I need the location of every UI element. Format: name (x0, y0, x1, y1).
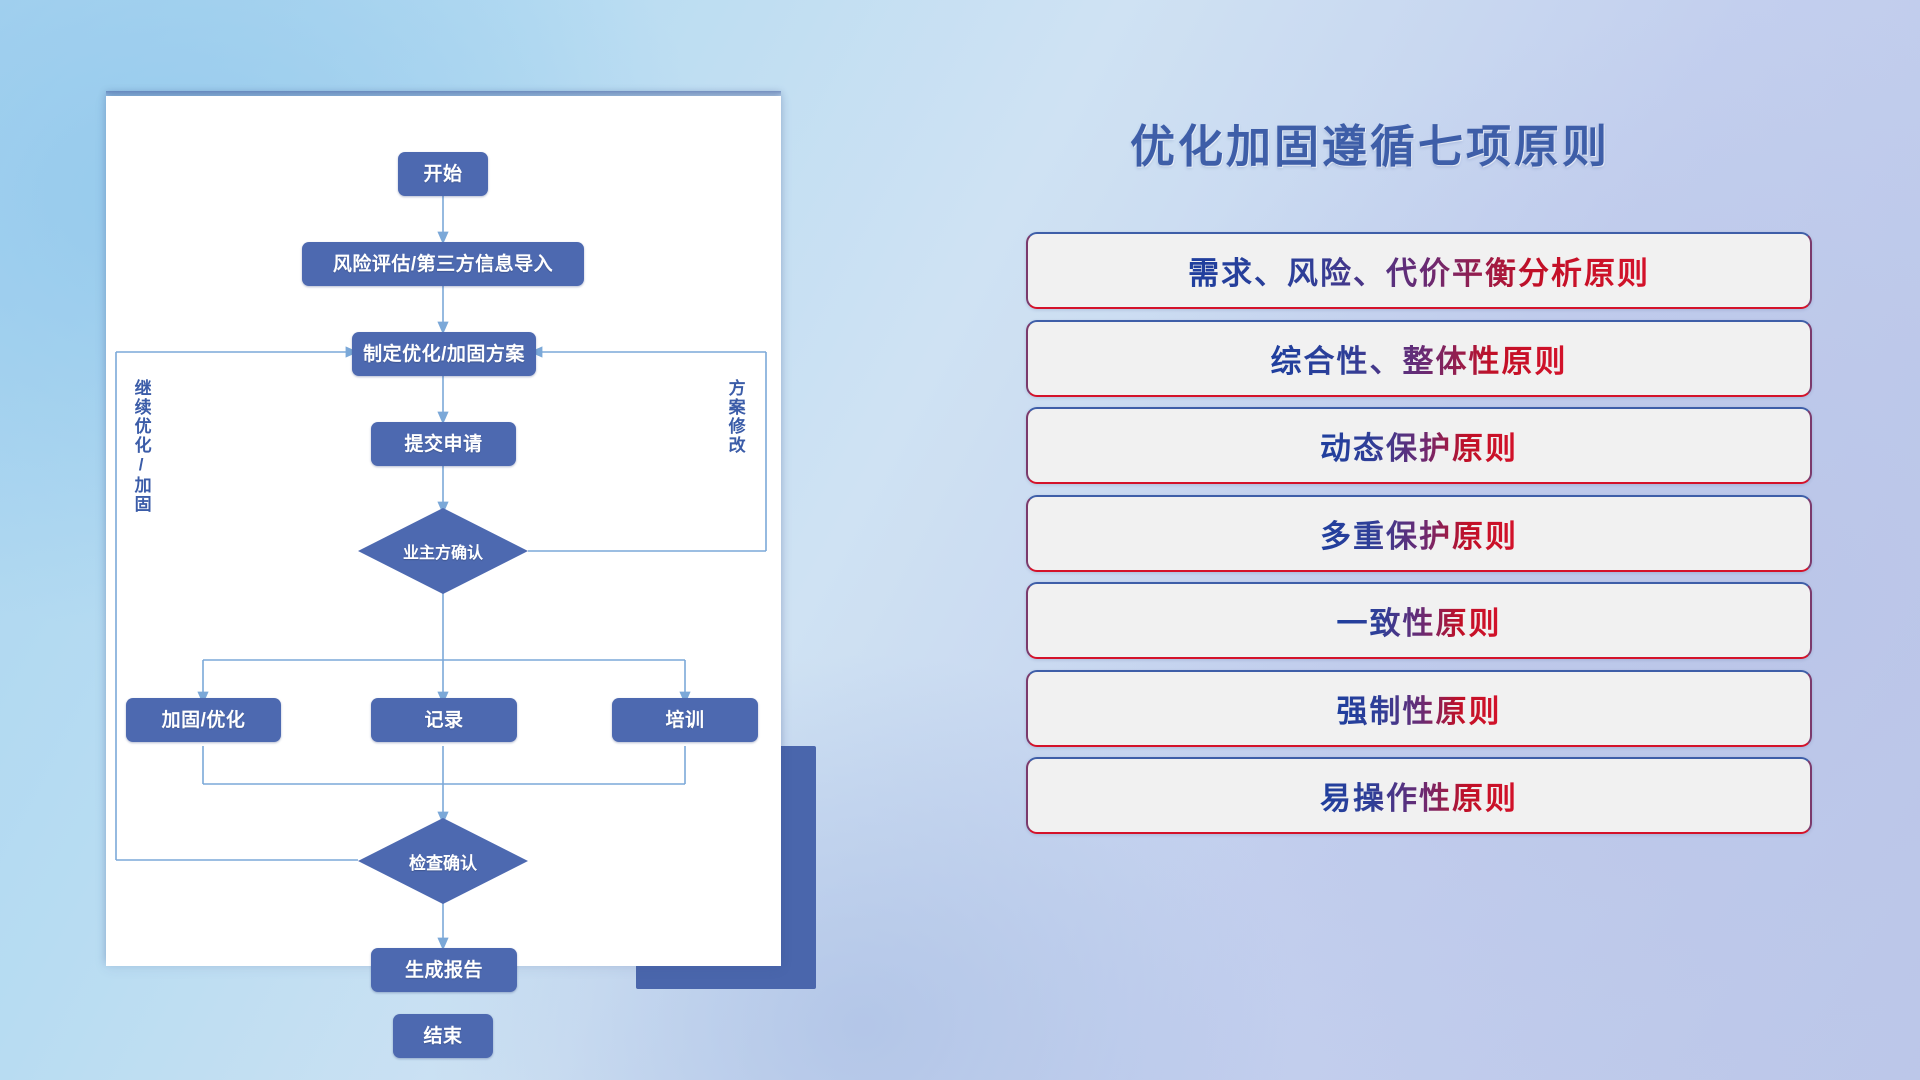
principle-card-1-label: 需求、风险、代价平衡分析原则 (1188, 248, 1650, 293)
flow-node-start-label: 开始 (423, 165, 462, 184)
principle-card-7-label: 易操作性原则 (1320, 773, 1518, 818)
flow-node-reinforce-label: 加固/优化 (162, 711, 246, 730)
principle-card-3-label: 动态保护原则 (1320, 423, 1518, 468)
principle-card-4-label: 多重保护原则 (1320, 511, 1518, 556)
flow-node-plan[interactable]: 制定优化/加固方案 (352, 332, 536, 376)
flow-node-plan-label: 制定优化/加固方案 (363, 345, 525, 364)
flow-node-submit-label: 提交申请 (404, 435, 482, 454)
principle-card-2[interactable]: 综合性、整体性原则 (1026, 320, 1812, 397)
flow-node-end-label: 结束 (423, 1027, 462, 1046)
flow-node-check-confirm-label: 检查确认 (409, 849, 477, 874)
principle-card-2-label: 综合性、整体性原则 (1271, 336, 1568, 381)
principle-card-5[interactable]: 一致性原则 (1026, 582, 1812, 659)
page-title: 优化加固遵循七项原则 (1030, 110, 1710, 175)
principle-card-3[interactable]: 动态保护原则 (1026, 407, 1812, 484)
flow-node-risk-assessment-label: 风险评估/第三方信息导入 (333, 255, 553, 274)
flow-node-record-label: 记录 (424, 711, 463, 730)
flow-node-reinforce[interactable]: 加固/优化 (126, 698, 281, 742)
edge-label-left-loop: 继续优化/加固 (132, 379, 150, 514)
principle-card-1[interactable]: 需求、风险、代价平衡分析原则 (1026, 232, 1812, 309)
principle-card-5-label: 一致性原则 (1337, 598, 1502, 643)
flow-node-submit[interactable]: 提交申请 (371, 422, 516, 466)
flow-node-report-label: 生成报告 (405, 961, 483, 980)
flow-node-end[interactable]: 结束 (393, 1014, 493, 1058)
edge-label-right-loop: 方案修改 (726, 379, 744, 455)
flow-node-training-label: 培训 (665, 711, 704, 730)
flowchart-card: 开始 风险评估/第三方信息导入 制定优化/加固方案 提交申请 业主方确认 加固/… (106, 96, 781, 966)
principle-card-7[interactable]: 易操作性原则 (1026, 757, 1812, 834)
principle-card-6-label: 强制性原则 (1337, 686, 1502, 731)
flow-node-start[interactable]: 开始 (398, 152, 488, 196)
slide-canvas: 开始 风险评估/第三方信息导入 制定优化/加固方案 提交申请 业主方确认 加固/… (0, 0, 1920, 1080)
flow-node-owner-confirm-label: 业主方确认 (403, 539, 483, 563)
flow-node-training[interactable]: 培训 (612, 698, 758, 742)
flowchart: 开始 风险评估/第三方信息导入 制定优化/加固方案 提交申请 业主方确认 加固/… (106, 96, 781, 966)
principle-card-6[interactable]: 强制性原则 (1026, 670, 1812, 747)
flow-node-record[interactable]: 记录 (371, 698, 517, 742)
flow-node-report[interactable]: 生成报告 (371, 948, 517, 992)
principles-list: 需求、风险、代价平衡分析原则 综合性、整体性原则 动态保护原则 多重保护原则 一… (1026, 232, 1812, 845)
principle-card-4[interactable]: 多重保护原则 (1026, 495, 1812, 572)
flow-node-risk-assessment[interactable]: 风险评估/第三方信息导入 (302, 242, 584, 286)
